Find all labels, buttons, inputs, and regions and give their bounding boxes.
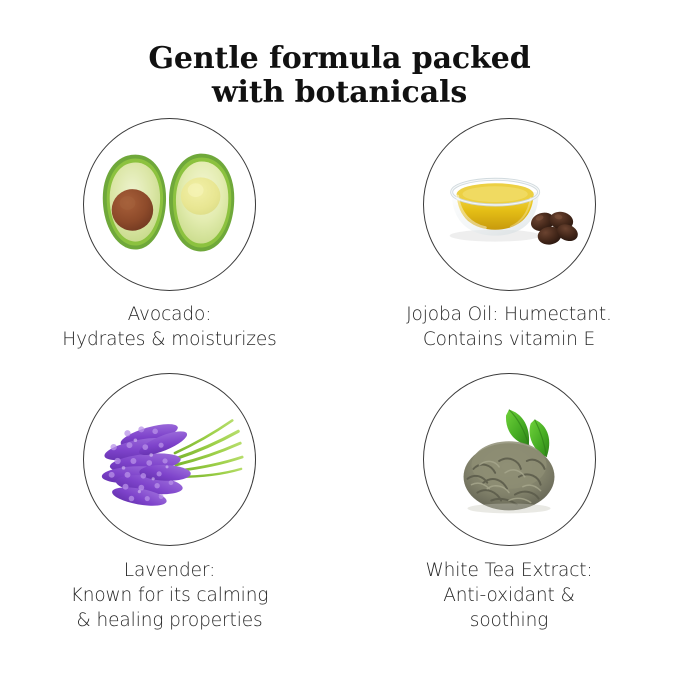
ingredient-caption-avocado: Avocado: Hydrates & moisturizes [62, 302, 276, 352]
ingredient-circle-lavender [83, 373, 256, 546]
avocado-half-right [169, 154, 234, 252]
ingredient-caption-lavender: Lavender: Known for its calming & healin… [71, 558, 269, 633]
avocado-halves-image [84, 119, 255, 290]
avocado-half-left [103, 155, 166, 250]
ingredient-circle-avocado [83, 118, 256, 291]
page-title: Gentle formula packed with botanicals [0, 42, 679, 110]
page-title-line-1: Gentle formula packed [0, 42, 679, 76]
ingredient-caption-white-tea: White Tea Extract: Anti-oxidant & soothi… [425, 558, 592, 633]
white-tea-leaves-image [424, 374, 595, 545]
ingredient-circle-jojoba-oil [423, 118, 596, 291]
jojoba-oil-bowl-image [424, 119, 595, 290]
lavender-bundle-image [84, 374, 255, 545]
ingredient-cell-avocado: Avocado: Hydrates & moisturizes [0, 118, 339, 373]
ingredient-cell-jojoba-oil: Jojoba Oil: Humectant. Contains vitamin … [339, 118, 679, 373]
lavender-stems [175, 420, 242, 476]
jojoba-seeds [528, 210, 580, 246]
botanicals-infographic: Gentle formula packed with botanicals [0, 0, 679, 679]
ingredient-cell-lavender: Lavender: Known for its calming & healin… [0, 373, 339, 628]
ingredient-cell-white-tea: White Tea Extract: Anti-oxidant & soothi… [339, 373, 679, 628]
ingredient-caption-jojoba-oil: Jojoba Oil: Humectant. Contains vitamin … [406, 302, 612, 352]
page-title-line-2: with botanicals [0, 76, 679, 110]
ingredient-circle-white-tea [423, 373, 596, 546]
ingredient-grid: Avocado: Hydrates & moisturizes [0, 118, 679, 628]
